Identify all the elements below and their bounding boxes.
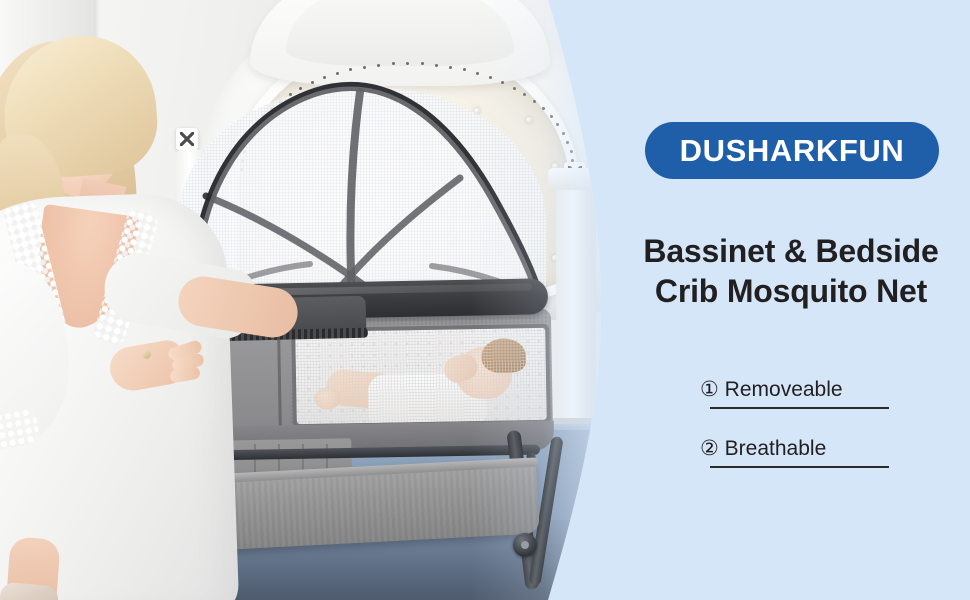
brand-name: DUSHARKFUN: [680, 135, 905, 166]
feature-text-2: Breathable: [725, 437, 827, 460]
feature-marker-2: ②: [700, 437, 719, 460]
info-panel: DUSHARKFUN Bassinet & Bedside Crib Mosqu…: [612, 0, 970, 600]
photo-edge-fade: [470, 0, 612, 600]
feature-item-2: ② Breathable: [700, 437, 910, 468]
woman: [0, 14, 232, 600]
feature-label-1: ① Removeable: [700, 378, 910, 402]
brand-badge: DUSHARKFUN: [645, 122, 939, 179]
product-title-line-2: Crib Mosquito Net: [612, 272, 970, 312]
product-title-line-1: Bassinet & Bedside: [612, 232, 970, 272]
feature-underline-1: [710, 407, 889, 409]
feature-item-1: ① Removeable: [700, 378, 910, 409]
feature-text-1: Removeable: [725, 378, 843, 401]
page-title: Bassinet & Bedside Crib Mosquito Net: [612, 232, 970, 311]
feature-list: ① Removeable ② Breathable: [612, 378, 970, 496]
feature-underline-2: [710, 466, 889, 468]
product-banner: DUSHARKFUN Bassinet & Bedside Crib Mosqu…: [0, 0, 970, 600]
feature-label-2: ② Breathable: [700, 437, 910, 461]
product-photo: [0, 0, 612, 600]
woman-ring: [142, 350, 151, 359]
feature-marker-1: ①: [700, 378, 719, 401]
